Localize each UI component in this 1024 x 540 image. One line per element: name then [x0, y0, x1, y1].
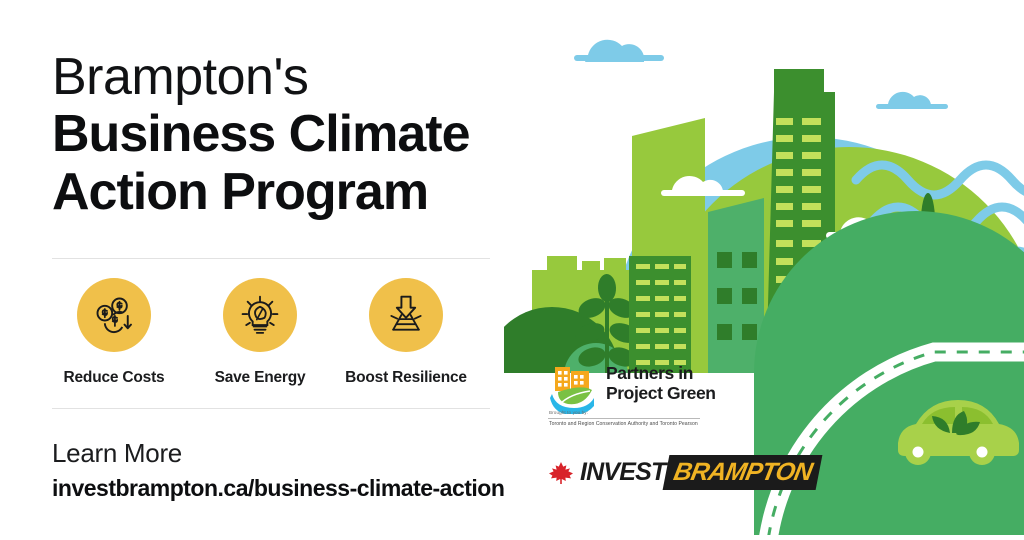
headline-line-1: Brampton's	[52, 50, 532, 105]
banner-root: Brampton's Business Climate Action Progr…	[0, 0, 1024, 535]
left-content-panel: Brampton's Business Climate Action Progr…	[0, 0, 545, 535]
benefit-label: Save Energy	[215, 369, 306, 387]
divider-top	[52, 258, 490, 259]
coins-down-arrow-icon	[92, 293, 136, 337]
cta-block: Learn More investbrampton.ca/business-cl…	[52, 438, 504, 502]
ppg-tagline-small: Brought to you by:	[549, 410, 588, 415]
ppg-line-2: Project Green	[606, 384, 716, 404]
partners-in-project-green-logo[interactable]: Partners in Project Green Brought to you…	[548, 360, 728, 432]
ppg-line-1: Partners in	[606, 364, 716, 384]
invest-brampton-logo[interactable]: INVEST BRAMPTON	[548, 456, 756, 490]
benefit-save-energy: Save Energy	[198, 278, 322, 387]
headline-line-2: Business Climate	[52, 105, 532, 163]
brampton-word: BRAMPTON	[671, 458, 814, 487]
teal-building	[708, 198, 764, 375]
maple-leaf-icon	[548, 461, 574, 485]
invest-word: INVEST	[580, 458, 666, 487]
cta-url[interactable]: investbrampton.ca/business-climate-actio…	[52, 475, 504, 502]
benefit-label: Reduce Costs	[64, 369, 165, 387]
brampton-block: BRAMPTON	[663, 455, 822, 490]
headline-line-3: Action Program	[52, 163, 532, 221]
arrow-pressing-pyramid-icon	[384, 293, 428, 337]
logo-group: Partners in Project Green Brought to you…	[548, 360, 756, 490]
benefit-icon-bubble	[369, 278, 443, 352]
cta-title: Learn More	[52, 438, 504, 469]
dark-green-building	[629, 256, 691, 375]
benefit-icon-bubble	[223, 278, 297, 352]
cloud-top-left	[574, 40, 664, 62]
benefits-list: Reduce Costs	[52, 278, 492, 387]
page-title: Brampton's Business Climate Action Progr…	[52, 50, 532, 222]
cloud-top-right	[876, 92, 948, 109]
benefit-boost-resilience: Boost Resilience	[344, 278, 468, 387]
ppg-tagline: Toronto and Region Conservation Authorit…	[549, 421, 698, 427]
benefit-reduce-costs: Reduce Costs	[52, 278, 176, 387]
ppg-mark-icon	[548, 362, 600, 414]
benefit-label: Boost Resilience	[345, 369, 467, 387]
ppg-wordmark: Partners in Project Green	[606, 364, 716, 404]
lightbulb-leaf-icon	[238, 293, 282, 337]
ppg-rule	[548, 418, 700, 419]
divider-bottom	[52, 408, 490, 409]
benefit-icon-bubble	[77, 278, 151, 352]
